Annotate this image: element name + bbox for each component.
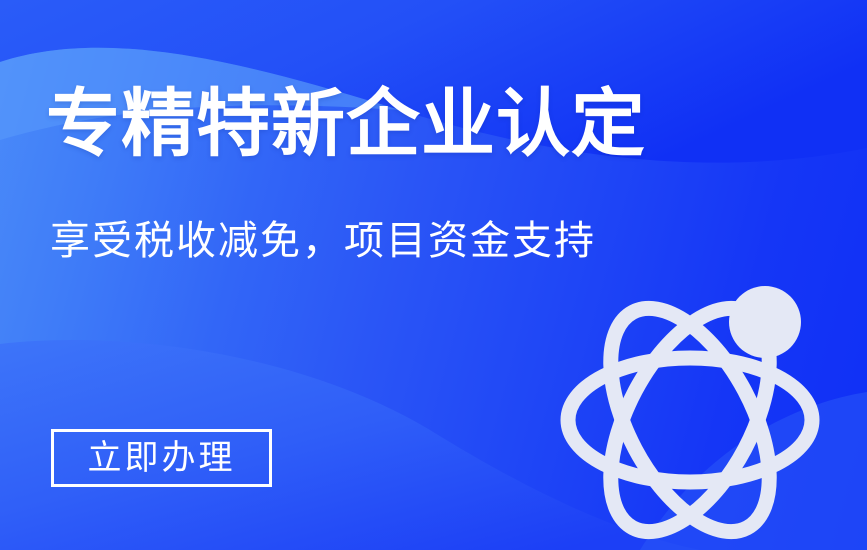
promo-banner: 专精特新企业认定 享受税收减免，项目资金支持 立即办理 [0, 0, 867, 550]
atom-icon [560, 280, 860, 550]
banner-subtitle: 享受税收减免，项目资金支持 [50, 214, 596, 268]
page-title: 专精特新企业认定 [46, 78, 646, 170]
atom-electron-dot [729, 286, 801, 358]
apply-now-button[interactable]: 立即办理 [51, 429, 272, 487]
